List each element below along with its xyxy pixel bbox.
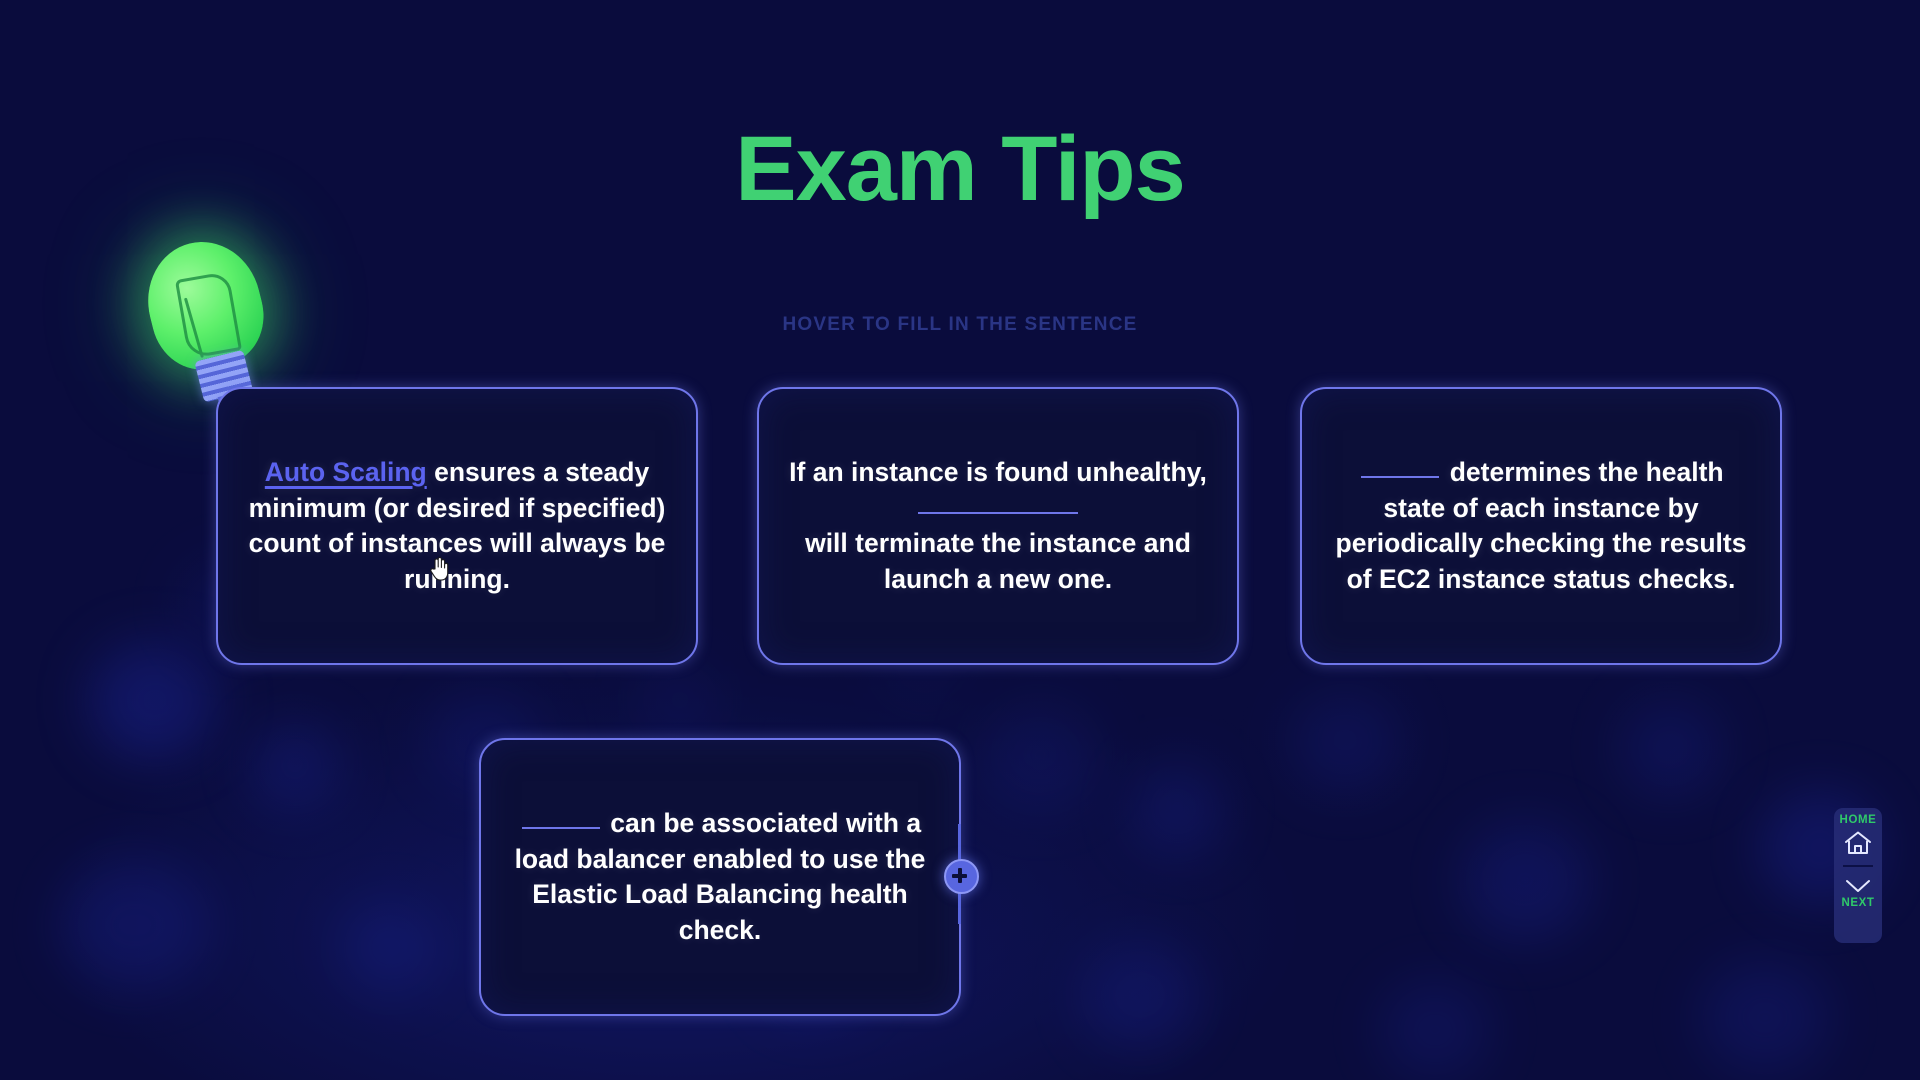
page-title: Exam Tips xyxy=(0,122,1920,218)
tip-card-3-text: determines the health state of each inst… xyxy=(1332,455,1750,597)
tip-card-2-text-before: If an instance is found unhealthy, xyxy=(789,457,1207,487)
tip-card-3[interactable]: determines the health state of each inst… xyxy=(1300,387,1782,665)
home-icon[interactable] xyxy=(1843,830,1873,856)
tip-card-4-text: can be associated with a load balancer e… xyxy=(511,806,929,948)
tip-card-2-text: If an instance is found unhealthy, will … xyxy=(789,455,1207,597)
nav-divider xyxy=(1843,865,1873,867)
tip-card-2-blank[interactable] xyxy=(918,512,1078,514)
page-root: Exam Tips HOVER TO FILL IN THE SENTENCE … xyxy=(0,0,1920,1080)
home-label: HOME xyxy=(1840,814,1877,826)
tip-card-3-blank[interactable] xyxy=(1361,476,1439,478)
tip-card-2-text-after: will terminate the instance and launch a… xyxy=(805,528,1191,594)
tip-card-4[interactable]: can be associated with a load balancer e… xyxy=(479,738,961,1016)
tip-card-1-text: Auto Scaling ensures a steady minimum (o… xyxy=(248,455,666,597)
tip-card-1-answer[interactable]: Auto Scaling xyxy=(265,457,427,487)
page-subtitle: HOVER TO FILL IN THE SENTENCE xyxy=(0,314,1920,336)
slide-navigation: HOME NEXT xyxy=(1834,808,1882,943)
next-label: NEXT xyxy=(1841,897,1874,909)
chevron-down-icon[interactable] xyxy=(1843,877,1873,895)
plus-icon[interactable] xyxy=(944,859,979,894)
tip-card-1[interactable]: Auto Scaling ensures a steady minimum (o… xyxy=(216,387,698,665)
tip-card-4-blank[interactable] xyxy=(522,827,600,829)
tip-card-2[interactable]: If an instance is found unhealthy, will … xyxy=(757,387,1239,665)
